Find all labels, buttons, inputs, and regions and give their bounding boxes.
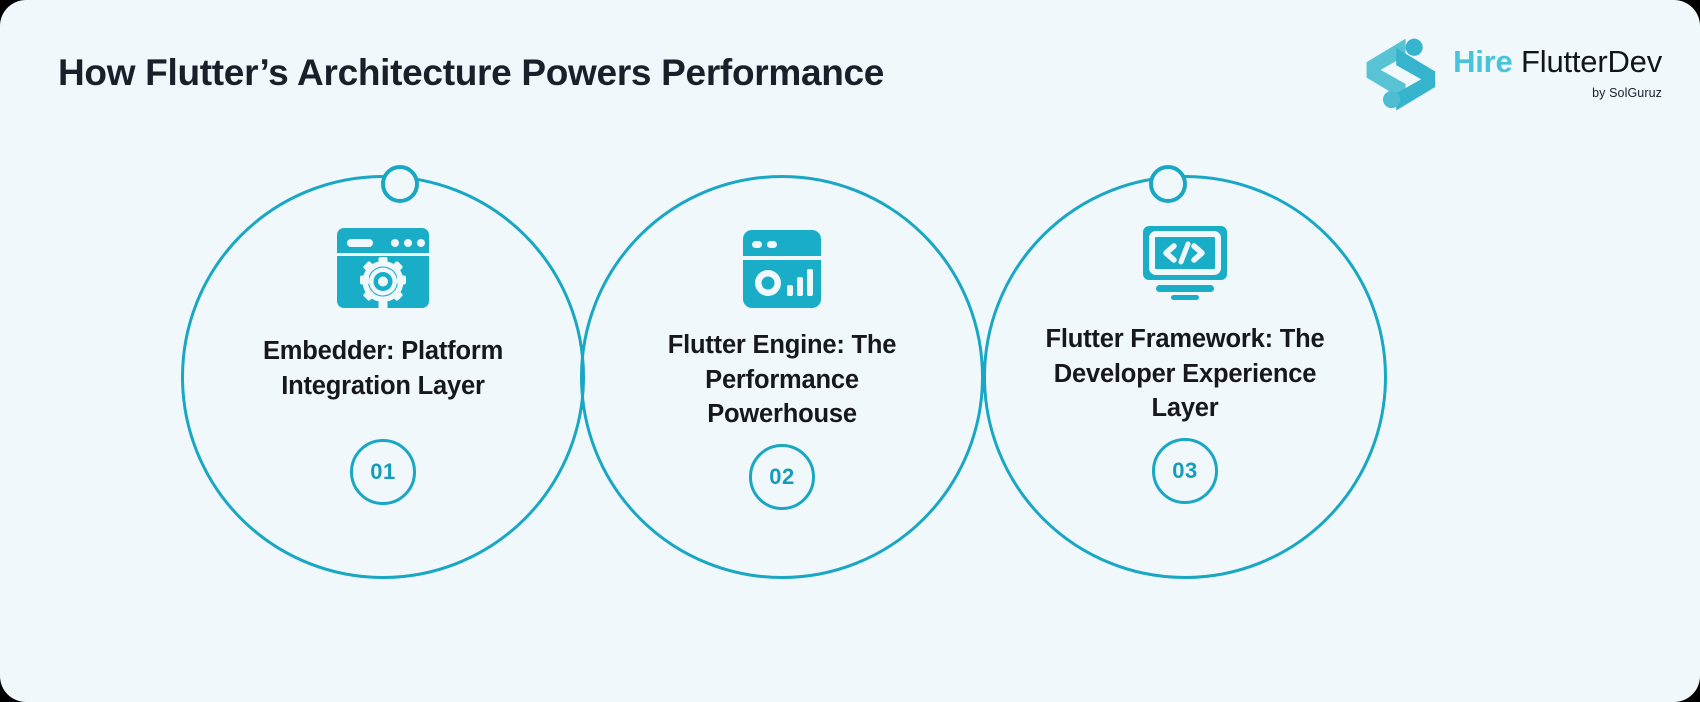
node-label-2: Flutter Engine: The Performance Powerhou…	[632, 328, 932, 432]
node-badge-1: 01	[350, 439, 416, 505]
node-content-1: Embedder: Platform Integration Layer 01	[184, 178, 582, 626]
node-circle-1: Embedder: Platform Integration Layer 01	[181, 175, 585, 579]
browser-gear-icon	[337, 228, 429, 308]
node-badge-2: 02	[749, 444, 815, 510]
logo-wordmark: Hire FlutterDev	[1453, 46, 1662, 79]
logo-tagline: by SolGuruz	[1592, 86, 1662, 100]
node-marker-3	[1149, 165, 1187, 203]
hireflutterdev-chevron-logo-icon	[1365, 34, 1443, 112]
logo-word-hire: Hire	[1453, 44, 1513, 79]
infographic-canvas: How Flutter’s Architecture Powers Perfor…	[0, 0, 1700, 702]
monitor-code-icon	[1143, 226, 1227, 300]
node-circle-3: Flutter Framework: The Developer Experie…	[983, 175, 1387, 579]
node-circle-2: Flutter Engine: The Performance Powerhou…	[580, 175, 984, 579]
logo-text-block: Hire FlutterDev by SolGuruz	[1453, 34, 1662, 100]
node-content-2: Flutter Engine: The Performance Powerhou…	[583, 178, 981, 628]
node-label-3: Flutter Framework: The Developer Experie…	[1030, 322, 1340, 426]
brand-logo: Hire FlutterDev by SolGuruz	[1365, 34, 1662, 112]
node-badge-3: 03	[1152, 438, 1218, 504]
node-label-1: Embedder: Platform Integration Layer	[233, 334, 533, 403]
node-content-3: Flutter Framework: The Developer Experie…	[986, 178, 1384, 624]
node-marker-1	[381, 165, 419, 203]
page-title: How Flutter’s Architecture Powers Perfor…	[58, 52, 884, 94]
browser-analytics-icon	[743, 230, 821, 308]
logo-word-flutterdev: FlutterDev	[1521, 44, 1662, 79]
